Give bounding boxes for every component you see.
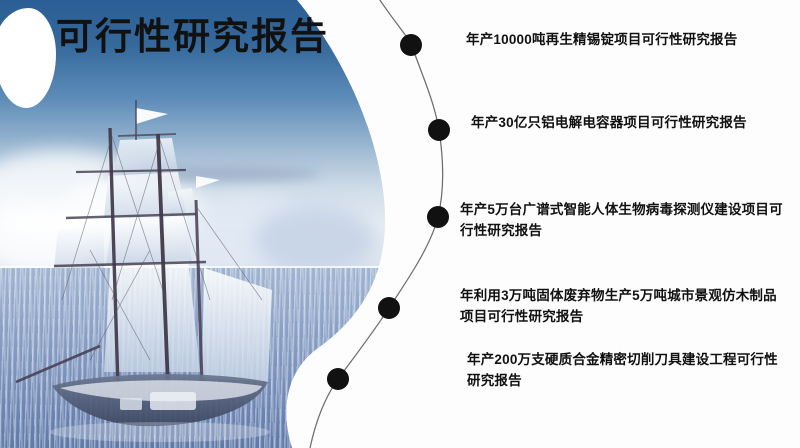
list-item[interactable]: 年利用3万吨固体废弃物生产5万吨城市景观仿木制品项目可行性研究报告 [460, 286, 784, 328]
slide-canvas: 可行性研究报告 年产10000吨再生精锡锭项目可行性研究报告 年产30亿只铝电解… [0, 0, 800, 448]
list-item[interactable]: 年产30亿只铝电解电容器项目可行性研究报告 [471, 113, 783, 134]
list-item[interactable]: 年产5万台广谱式智能人体生物病毒探测仪建设项目可行性研究报告 [460, 200, 784, 242]
bullet-2 [428, 119, 450, 141]
bullet-5 [327, 368, 349, 390]
bullet-4 [378, 297, 400, 319]
bullet-1 [400, 34, 422, 56]
list-item[interactable]: 年产10000吨再生精锡锭项目可行性研究报告 [466, 30, 796, 51]
bullet-3 [427, 206, 449, 228]
list-item[interactable]: 年产200万支硬质合金精密切削刀具建设工程可行性研究报告 [467, 350, 787, 392]
